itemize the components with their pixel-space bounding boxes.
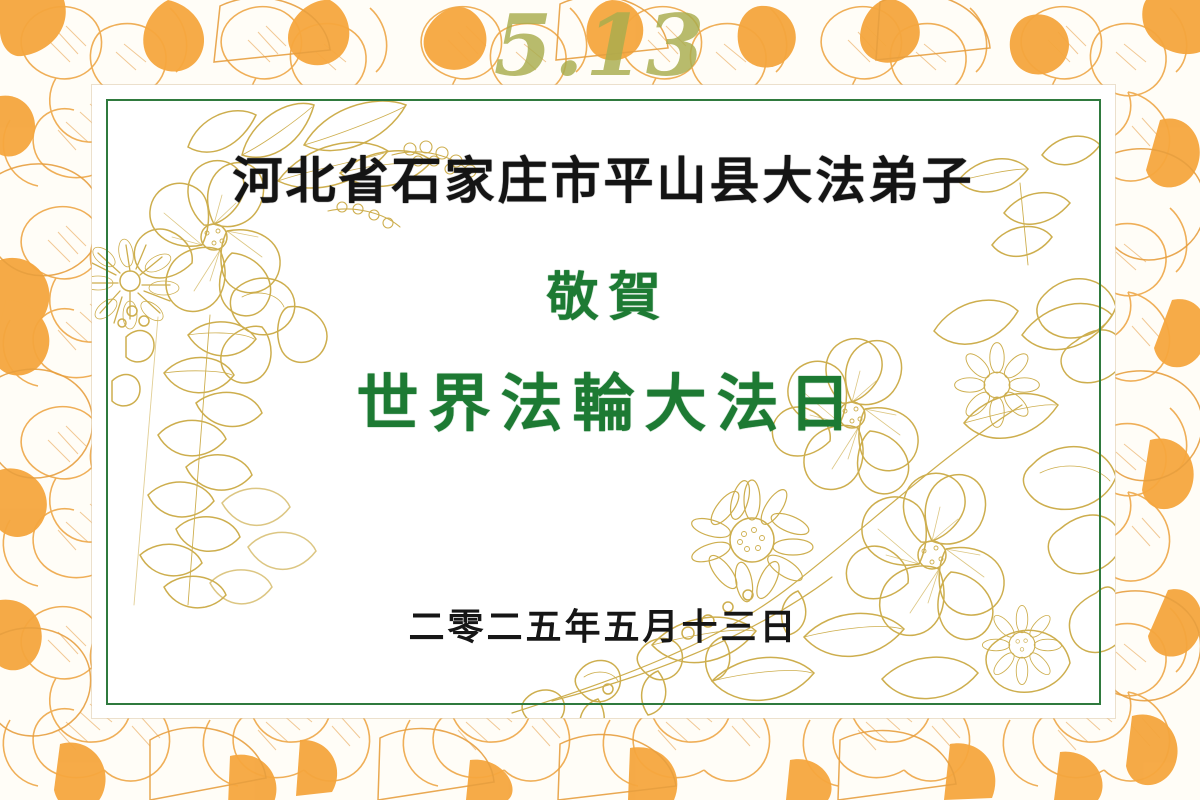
greeting-card-poster: 5.13 — [0, 0, 1200, 800]
greeting-card: 河北省石家庄市平山县大法弟子 敬賀 世界法輪大法日 二零二五年五月十三日 — [92, 85, 1115, 718]
card-greeting: 敬賀 — [92, 255, 1115, 330]
card-date: 二零二五年五月十三日 — [92, 598, 1115, 650]
card-headline: 河北省石家庄市平山县大法弟子 — [92, 141, 1115, 213]
day-mark-5-13: 5.13 — [0, 0, 1200, 95]
card-main-title: 世界法輪大法日 — [92, 353, 1115, 443]
card-text-layer: 河北省石家庄市平山县大法弟子 敬賀 世界法輪大法日 二零二五年五月十三日 — [92, 85, 1115, 718]
